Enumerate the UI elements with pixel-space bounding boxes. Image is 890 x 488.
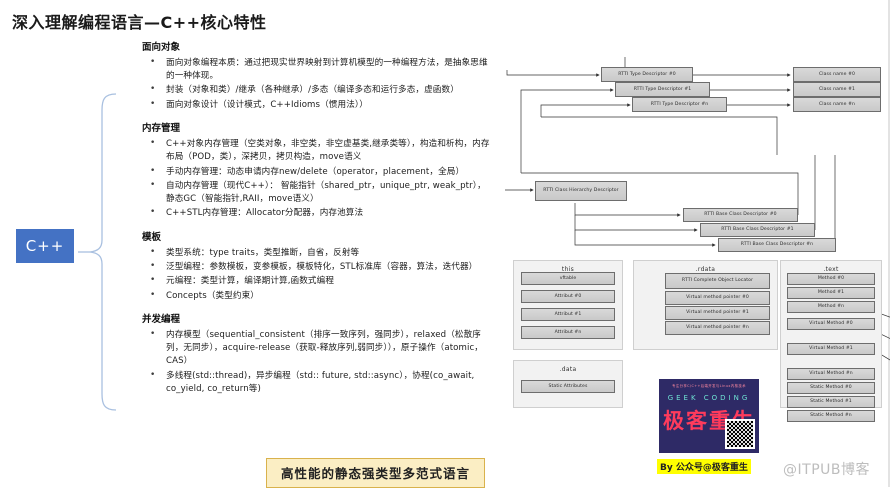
data-field-static-attributes: Static Attributes xyxy=(521,380,615,393)
this-field-attribut-0: Attribut #0 xyxy=(521,290,615,303)
region-label: .text xyxy=(781,266,881,273)
group-bullets: C++对象内存管理（空类对象，非空类，非空虚基类,继承类等），构造和析构，内存布… xyxy=(140,138,492,221)
root-node-label: C++ xyxy=(26,237,65,255)
outline-group-concurrency: 并发编程 内存模型（sequential_consistent（排序一致序列，强… xyxy=(140,314,492,396)
rtti-type-descriptor-n: RTTI Type Descriptor #n xyxy=(632,97,727,112)
text-method-0: Method #0 xyxy=(787,273,875,285)
text-virtual-method-1: Virtual Method #1 xyxy=(787,343,875,355)
rdata-virtual-method-pointer-0: Virtual method pointer #0 xyxy=(665,291,770,305)
outline-group-templates: 模板 类型系统：type traits，类型推断，自省，反射等 泛型编程：参数模… xyxy=(140,232,492,303)
qr-code-icon xyxy=(725,419,755,449)
text-static-method-1: Static Method #1 xyxy=(787,396,875,408)
rtti-class-hierarchy-descriptor: RTTI Class Hierarchy Descriptor xyxy=(535,181,627,201)
region-label: .rdata xyxy=(634,266,777,273)
logo-caption: By 公众号@极客重生 xyxy=(657,459,751,474)
list-item: 类型系统：type traits，类型推断，自省，反射等 xyxy=(140,247,492,260)
rdata-virtual-method-pointer-1: Virtual method pointer #1 xyxy=(665,306,770,320)
group-title: 并发编程 xyxy=(142,314,492,327)
page-title: 深入理解编程语言—C++核心特性 xyxy=(12,9,267,33)
list-item: 面向对象设计（设计模式，C++Idioms（惯用法）） xyxy=(140,99,492,112)
list-item: 泛型编程：参数模板，变参模板，模板特化，STL标准库（容器，算法，迭代器） xyxy=(140,261,492,274)
class-name-n: Class name #n xyxy=(793,97,881,112)
site-watermark: @ITPUB博客 xyxy=(783,459,870,479)
this-field-attribut-1: Attribut #1 xyxy=(521,308,615,321)
group-title: 面向对象 xyxy=(142,42,492,55)
class-name-1: Class name #1 xyxy=(793,82,881,97)
list-item: 面向对象编程本质：通过把现实世界映射到计算机模型的一种编程方法，是抽象思维的一种… xyxy=(140,57,492,84)
list-item: 内存模型（sequential_consistent（排序一致序列，强同步），r… xyxy=(140,329,492,369)
brace-connector xyxy=(76,92,118,412)
rtti-base-class-descriptor-n: RTTI Base Class Descriptor #n xyxy=(718,238,836,252)
class-name-0: Class name #0 xyxy=(793,67,881,82)
list-item: C++STL内存管理：Allocator分配器，内存池算法 xyxy=(140,207,492,220)
rtti-memory-diagram: RTTI Type Descriptor #0 RTTI Type Descri… xyxy=(505,55,885,390)
rtti-base-class-descriptor-1: RTTI Base Class Descriptor #1 xyxy=(700,223,815,237)
rdata-virtual-method-pointer-n: Virtual method pointer #n xyxy=(665,321,770,335)
text-method-1: Method #1 xyxy=(787,287,875,299)
list-item: 元编程：类型计算，编译期计算,函数式编程 xyxy=(140,275,492,288)
text-virtual-method-0: Virtual Method #0 xyxy=(787,318,875,330)
text-method-n: Method #n xyxy=(787,301,875,313)
list-item: 封装（对象和类）/继承（各种继承）/多态（编译多态和运行多态，虚函数） xyxy=(140,84,492,97)
rtti-type-descriptor-1: RTTI Type Descriptor #1 xyxy=(615,82,710,97)
brand-logo-card: 专注分享C/C++后端开发与Linux内核技术 GEEK CODING 极客重生 xyxy=(659,379,759,453)
logo-english-text: GEEK CODING xyxy=(659,394,759,402)
list-item: Concepts（类型约束） xyxy=(140,290,492,303)
group-title: 模板 xyxy=(142,232,492,245)
group-title: 内存管理 xyxy=(142,123,492,136)
list-item: C++对象内存管理（空类对象，非空类，非空虚基类,继承类等），构造和析构，内存布… xyxy=(140,138,492,165)
list-item: 多线程(std::thread)，异步编程（std:: future, std:… xyxy=(140,370,492,397)
rdata-rtti-complete-object-locator: RTTI Complete Object Locator xyxy=(665,273,770,289)
outline-column: 面向对象 面向对象编程本质：通过把现实世界映射到计算机模型的一种编程方法，是抽象… xyxy=(140,42,492,403)
region-label: .data xyxy=(514,366,622,373)
group-bullets: 内存模型（sequential_consistent（排序一致序列，强同步），r… xyxy=(140,329,492,397)
this-field-vftable: vftable xyxy=(521,272,615,285)
tagline-banner: 高性能的静态强类型多范式语言 xyxy=(266,458,485,488)
root-node-cpp: C++ xyxy=(16,229,74,263)
outline-group-object-oriented: 面向对象 面向对象编程本质：通过把现实世界映射到计算机模型的一种编程方法，是抽象… xyxy=(140,42,492,112)
text-static-method-n: Static Method #n xyxy=(787,410,875,422)
group-bullets: 类型系统：type traits，类型推断，自省，反射等 泛型编程：参数模板，变… xyxy=(140,247,492,303)
list-item: 自动内存管理（现代C++）： 智能指针（shared_ptr，unique_pt… xyxy=(140,180,492,207)
list-item: 手动内存管理：动态申请内存new/delete（operator，placeme… xyxy=(140,166,492,179)
logo-top-text: 专注分享C/C++后端开发与Linux内核技术 xyxy=(659,383,759,388)
text-virtual-method-n: Virtual Method #n xyxy=(787,368,875,380)
this-field-attribut-n: Attribut #n xyxy=(521,326,615,339)
rtti-type-descriptor-0: RTTI Type Descriptor #0 xyxy=(601,67,693,82)
outline-group-memory-management: 内存管理 C++对象内存管理（空类对象，非空类，非空虚基类,继承类等），构造和析… xyxy=(140,123,492,221)
group-bullets: 面向对象编程本质：通过把现实世界映射到计算机模型的一种编程方法，是抽象思维的一种… xyxy=(140,57,492,112)
text-static-method-0: Static Method #0 xyxy=(787,382,875,394)
slide-canvas: 深入理解编程语言—C++核心特性 C++ 面向对象 面向对象编程本质：通过把现实… xyxy=(0,0,890,487)
rtti-base-class-descriptor-0: RTTI Base Class Descriptor #0 xyxy=(683,208,798,222)
